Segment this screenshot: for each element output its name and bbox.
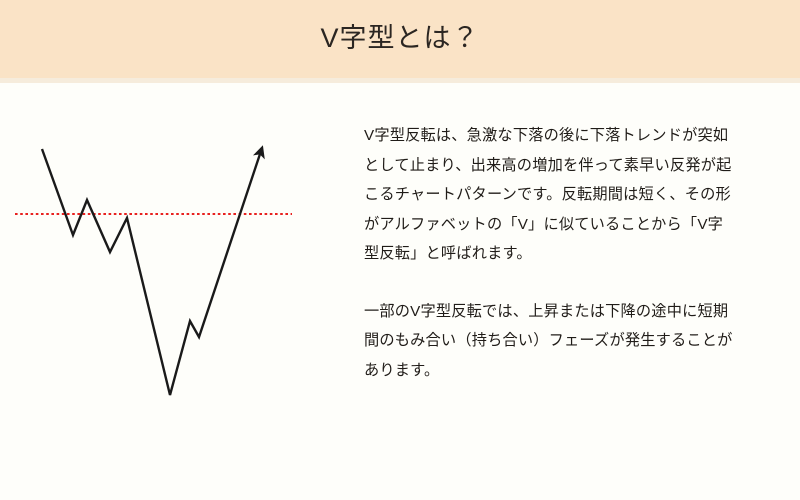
v-pattern-chart xyxy=(0,100,330,430)
price-line xyxy=(42,149,261,395)
chart-svg xyxy=(0,100,330,430)
header-banner: V字型とは？ xyxy=(0,0,800,78)
description-column: V字型反転は、急激な下落の後に下落トレンドが突如として止まり、出来高の増加を伴っ… xyxy=(364,121,736,385)
description-paragraph-2: 一部のV字型反転では、上昇または下降の途中に短期間のもみ合い（持ち合い）フェーズ… xyxy=(364,297,736,386)
page-title: V字型とは？ xyxy=(320,25,479,54)
description-paragraph-1: V字型反転は、急激な下落の後に下落トレンドが突如として止まり、出来高の増加を伴っ… xyxy=(364,121,736,269)
slide-page: V字型とは？ V字型反転は、急激な下落の後に下落トレンドが突如として止まり、出来… xyxy=(0,0,800,500)
header-divider xyxy=(0,78,800,83)
